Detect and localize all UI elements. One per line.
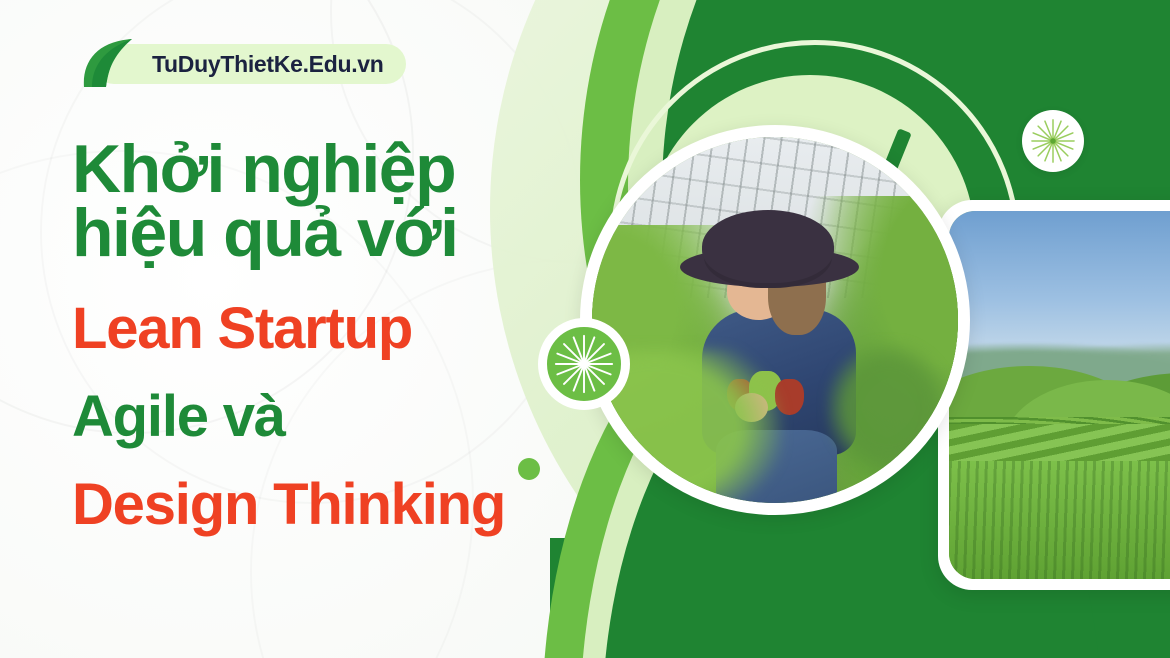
leaf-icon <box>80 37 142 89</box>
subheadline-agile: Agile và <box>72 388 632 446</box>
blurred-foreground-leaf <box>826 342 950 474</box>
bucket-hat <box>702 210 834 283</box>
headline: Khởi nghiệp hiệu quả với <box>72 138 632 266</box>
headline-line-2: hiệu quả với <box>72 202 632 266</box>
rect-photo-frame <box>938 200 1170 590</box>
headline-line-1: Khởi nghiệp <box>72 138 632 202</box>
tea-foreground-field <box>949 461 1170 579</box>
woman-harvesting-bell-peppers-in-greenhouse-photo <box>592 137 958 503</box>
subheadline: Lean Startup Agile và Design Thinking <box>72 300 632 534</box>
terraced-tea-plantation-landscape-photo <box>949 211 1170 579</box>
subheadline-lean-startup: Lean Startup <box>72 300 632 358</box>
circle-photo-frame <box>580 125 970 515</box>
starburst-top-right-icon <box>1022 110 1084 172</box>
poster-canvas: TuDuyThietKe.Edu.vn Khởi nghiệp hiệu quả… <box>0 0 1170 658</box>
brand-logo[interactable]: TuDuyThietKe.Edu.vn <box>72 38 632 90</box>
right-graphic-panel <box>550 0 1170 658</box>
content-column: TuDuyThietKe.Edu.vn Khởi nghiệp hiệu quả… <box>72 38 632 564</box>
subheadline-design-thinking: Design Thinking <box>72 476 632 534</box>
brand-name: TuDuyThietKe.Edu.vn <box>152 51 384 78</box>
